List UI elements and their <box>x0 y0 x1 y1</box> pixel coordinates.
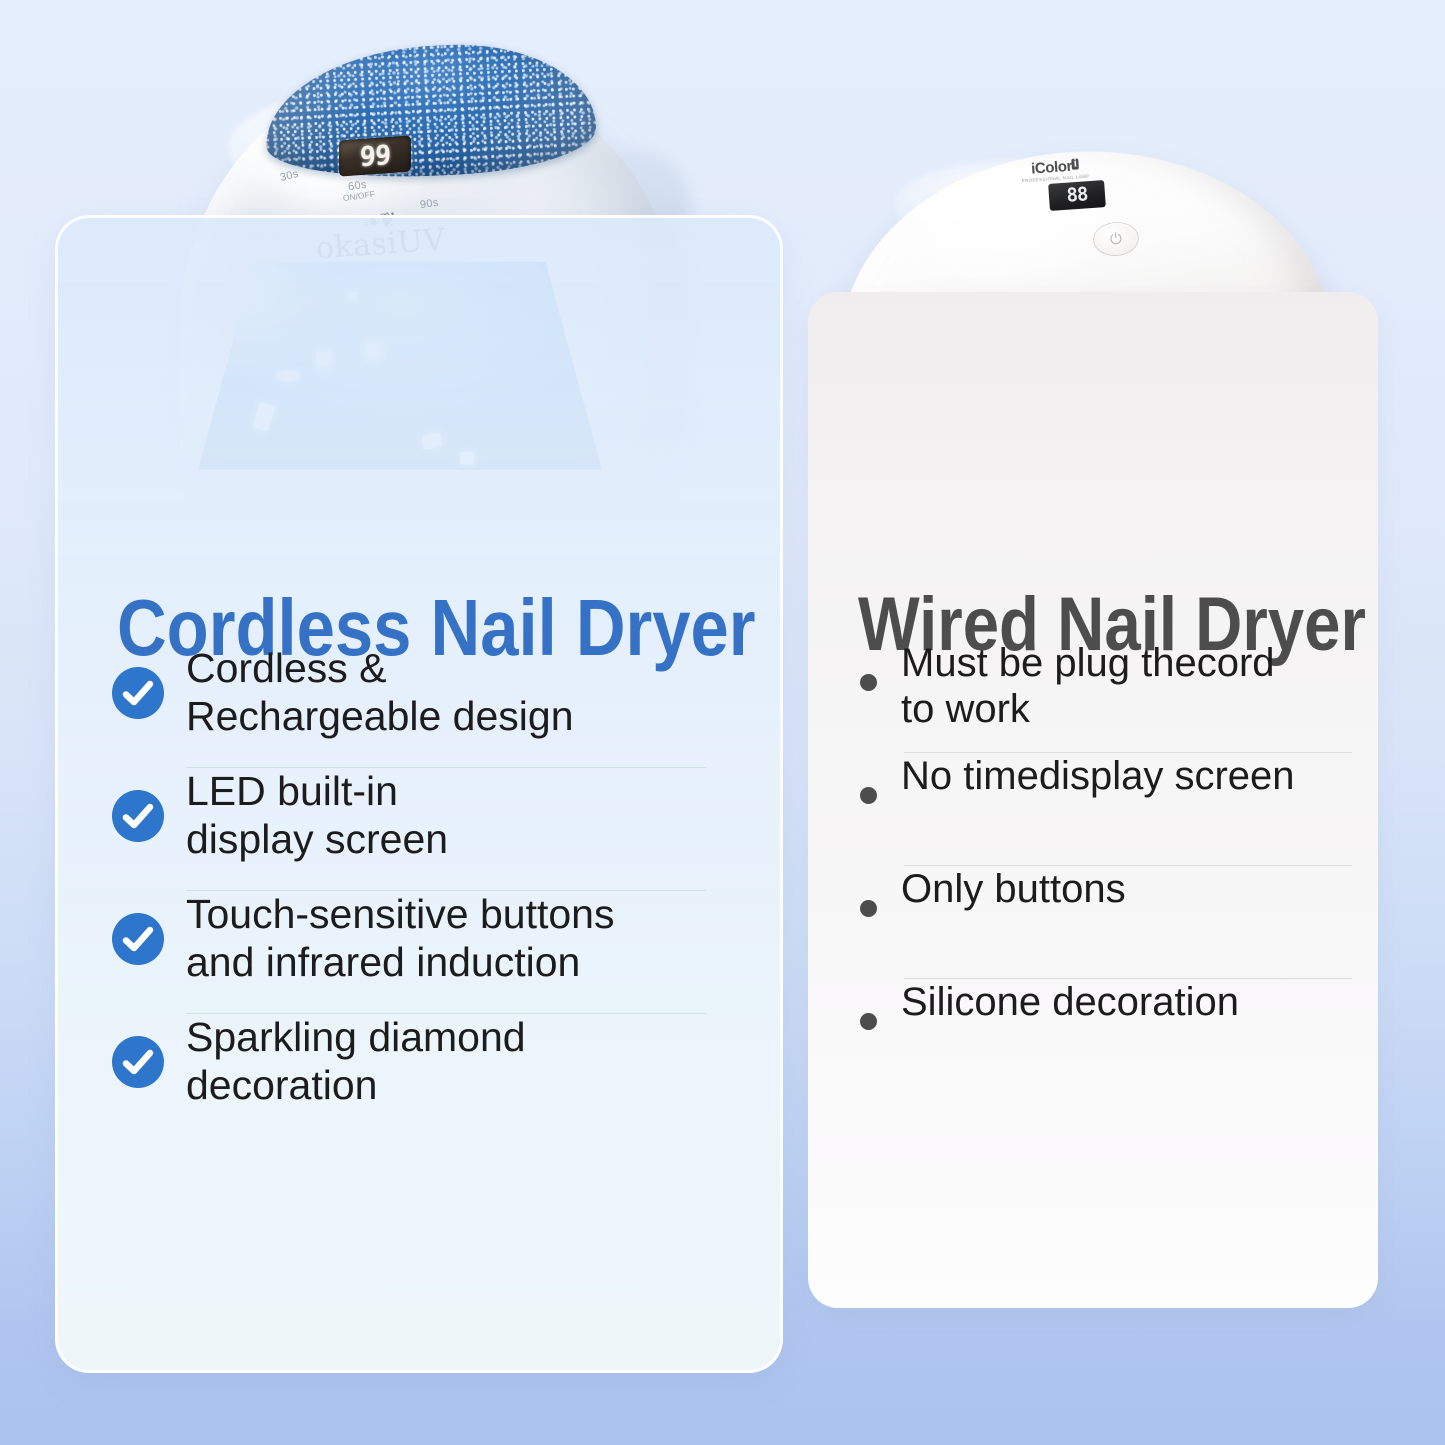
brand-subtitle: PROFESSIONAL NAIL LAMP <box>1021 174 1089 184</box>
list-item: No timedisplay screen <box>860 753 1360 865</box>
list-item-label: Silicone decoration <box>901 979 1239 1025</box>
list-item: Only buttons <box>860 866 1360 978</box>
list-item: Cordless &Rechargeable design <box>112 645 752 767</box>
bullet-dot-icon <box>860 787 877 804</box>
list-item-label: Only buttons <box>901 866 1126 912</box>
check-circle-icon <box>112 1036 164 1088</box>
check-circle-icon <box>112 913 164 965</box>
shell-highlight <box>228 88 528 208</box>
list-item-label: LED built-indisplay screen <box>186 768 448 863</box>
timer-button-60s-label: 60s <box>347 179 367 193</box>
brand-name-row: iColori <box>1020 158 1089 178</box>
rhinestone-sheen <box>262 37 598 184</box>
brand-name: iColor <box>1031 158 1073 178</box>
brand-logo-icolor: iColori PROFESSIONAL NAIL LAMP <box>1020 158 1090 184</box>
check-circle-icon <box>112 667 164 719</box>
brand-mark: i <box>1071 158 1078 169</box>
led-display: 88 <box>1048 180 1106 211</box>
comparison-infographic: 99 30s 60s ON/OFF 90s ❧❦ okasiUV iColori… <box>0 0 1445 1445</box>
cordless-feature-list: Cordless &Rechargeable design LED built-… <box>112 645 752 1136</box>
list-item-label: Must be plug thecordto work <box>901 640 1275 733</box>
timer-button-60s[interactable]: 60s ON/OFF <box>341 178 376 203</box>
shell-highlight <box>895 160 1135 250</box>
rhinestone-panel <box>262 37 598 184</box>
list-item-label: No timedisplay screen <box>901 753 1295 799</box>
list-item: Silicone decoration <box>860 979 1360 1091</box>
power-icon: ⏻ <box>1110 231 1123 247</box>
check-circle-icon <box>112 790 164 842</box>
list-item-label: Sparkling diamonddecoration <box>186 1014 526 1109</box>
list-item: Sparkling diamonddecoration <box>112 1014 752 1136</box>
wired-feature-list: Must be plug thecordto work No timedispl… <box>860 640 1360 1091</box>
power-button[interactable]: ⏻ <box>1092 220 1140 257</box>
list-item: Must be plug thecordto work <box>860 640 1360 752</box>
led-display-value: 88 <box>1066 185 1088 205</box>
bullet-dot-icon <box>860 900 877 917</box>
timer-button-60s-sublabel: ON/OFF <box>342 189 375 203</box>
list-item: LED built-indisplay screen <box>112 768 752 890</box>
list-item: Touch-sensitive buttonsand infrared indu… <box>112 891 752 1013</box>
timer-button-30s[interactable]: 30s <box>279 168 300 184</box>
led-display-value: 99 <box>360 141 390 170</box>
timer-button-90s[interactable]: 90s <box>419 197 439 211</box>
list-item-label: Touch-sensitive buttonsand infrared indu… <box>186 891 614 986</box>
bullet-dot-icon <box>860 1013 877 1030</box>
bullet-dot-icon <box>860 674 877 691</box>
led-display: 99 <box>339 135 411 176</box>
list-item-label: Cordless &Rechargeable design <box>186 645 574 740</box>
